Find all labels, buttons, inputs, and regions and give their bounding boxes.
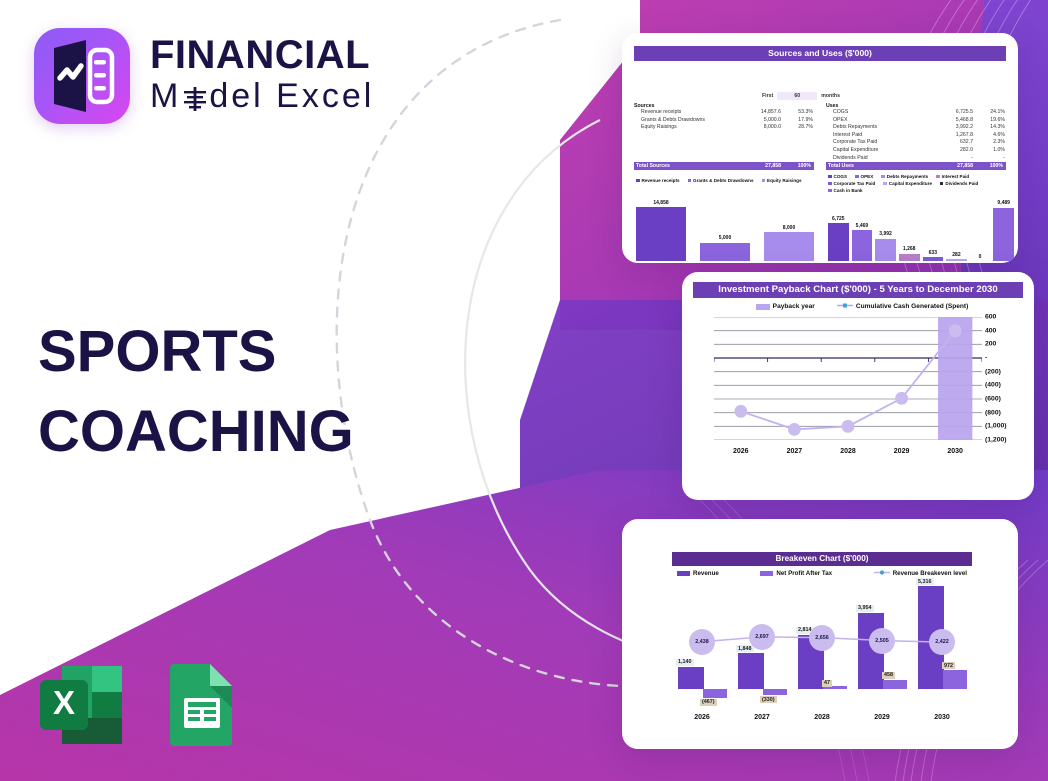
bar-item: 3,992 <box>875 191 896 261</box>
legend-label: Corporate Tax Paid <box>834 180 876 187</box>
sources-legend-item: Revenue receipts <box>636 177 680 184</box>
bar-net-profit <box>883 680 907 689</box>
bar-item: 8,000 <box>764 191 814 261</box>
card-sources-and-uses[interactable]: Sources and Uses ($'000) First 60 months… <box>622 33 1018 263</box>
uses-name: COGS <box>826 109 921 117</box>
bar-revenue <box>738 653 764 689</box>
uses-value: 1,267.8 <box>921 132 973 140</box>
uses-value: 632.7 <box>921 139 973 147</box>
breakeven-level-bubble: 2,505 <box>869 628 895 654</box>
bar-rect <box>923 257 944 261</box>
bar-item: 282 <box>946 191 967 261</box>
bar-rect <box>899 254 920 261</box>
payback-plot-area <box>714 317 982 440</box>
uses-pct: 24.1% <box>973 109 1005 117</box>
uses-legend-item: Dividends Paid <box>940 180 978 187</box>
uses-row: Debts Repayments 3,992.2 14.3% <box>826 124 1006 132</box>
first-label: First <box>762 93 773 99</box>
breakeven-x-tick: 2027 <box>732 714 792 721</box>
sources-name: Equity Raisings <box>634 124 729 132</box>
legend-label: Net Profit After Tax <box>776 570 832 577</box>
uses-row: Interest Paid 1,267.8 4.6% <box>826 132 1006 140</box>
sources-pct: 17.9% <box>781 117 813 125</box>
uses-name: OPEX <box>826 117 921 125</box>
bar-value-label: 0 <box>979 254 982 260</box>
legend-swatch <box>756 304 770 310</box>
payback-y-tick: (600) <box>985 396 1001 403</box>
legend-swatch <box>762 179 766 183</box>
breakeven-x-tick: 2026 <box>672 714 732 721</box>
payback-y-tick: 200 <box>985 341 996 348</box>
uses-legend-item: COGS <box>828 173 847 180</box>
payback-y-tick: (800) <box>985 409 1001 416</box>
legend-revenue: Revenue <box>677 569 719 578</box>
legend-swatch <box>828 175 832 179</box>
net-profit-value-label: 47 <box>822 680 832 687</box>
breakeven-title: Breakeven Chart ($'000) <box>672 552 972 566</box>
brand-line-2: M del Excel <box>150 77 374 116</box>
net-profit-value-label: 972 <box>942 662 955 669</box>
uses-total-label: Total Uses <box>826 162 921 170</box>
revenue-value-label: 5,316 <box>916 578 934 585</box>
legend-label: Revenue Breakeven level <box>893 570 967 577</box>
uses-row: OPEX 5,468.8 19.6% <box>826 117 1006 125</box>
sources-bar-chart: 14,858 5,000 8,000 <box>636 191 814 261</box>
uses-pct: 4.6% <box>973 132 1005 140</box>
sources-legend-item: Equity Raisings <box>762 177 802 184</box>
uses-bar-chart: 6,725 5,469 3,992 1,268 633 282 0 9,489 <box>828 191 1014 261</box>
uses-pct: 19.6% <box>973 117 1005 125</box>
legend-revenue-breakeven-level: Revenue Breakeven level <box>874 569 967 578</box>
bar-value-label: 633 <box>929 250 937 256</box>
sources-row: Revenue receipts 14,857.6 53.3% <box>634 109 814 117</box>
bar-item: 6,725 <box>828 191 849 261</box>
payback-x-tick: 2030 <box>928 448 982 455</box>
uses-pct: 2.3% <box>973 139 1005 147</box>
google-sheets-icon <box>166 660 238 755</box>
sources-legend-item: Grants & Debts Drawdowns <box>688 177 754 184</box>
bar-net-profit <box>943 670 967 689</box>
bar-value-label: 282 <box>952 252 960 258</box>
legend-label: Dividends Paid <box>945 180 978 187</box>
page-title-line-1: SPORTS <box>38 312 354 392</box>
bar-rect <box>875 239 896 261</box>
legend-label: Interest Paid <box>942 173 970 180</box>
legend-swatch <box>688 179 692 183</box>
sources-value: 14,857.6 <box>729 109 781 117</box>
sources-name: Revenue receipts <box>634 109 729 117</box>
bar-rect <box>946 259 967 261</box>
breakeven-legend: Revenue Net Profit After Tax Revenue Bre… <box>677 569 967 578</box>
bar-value-label: 1,268 <box>903 246 916 252</box>
sources-pct: 53.3% <box>781 109 813 117</box>
revenue-value-label: 1,848 <box>736 645 754 652</box>
uses-name: Capital Expenditure <box>826 147 921 155</box>
financial-model-logo-icon <box>34 28 130 124</box>
uses-name: Corporate Tax Paid <box>826 139 921 147</box>
legend-label: Payback year <box>773 303 815 310</box>
legend-swatch <box>936 175 940 179</box>
microsoft-excel-icon: X <box>32 660 128 755</box>
months-label: months <box>821 93 840 99</box>
payback-line-chart <box>714 317 982 440</box>
legend-swatch <box>828 182 832 186</box>
brand-line-2-before: M <box>150 77 181 116</box>
format-icons: X <box>32 660 238 755</box>
payback-y-tick: 400 <box>985 327 996 334</box>
sources-total-value: 27,858 <box>729 162 781 170</box>
legend-label: Capital Expenditure <box>889 180 932 187</box>
uses-total-value: 27,858 <box>921 162 973 170</box>
legend-swatch <box>677 571 690 576</box>
uses-row: COGS 6,725.5 24.1% <box>826 109 1006 117</box>
payback-x-tick: 2029 <box>875 448 929 455</box>
legend-line-marker-icon <box>837 302 853 311</box>
page-title: SPORTS COACHING <box>38 312 354 472</box>
sources-total-row: Total Sources 27,858 100% <box>634 162 814 170</box>
bar-value-label: 14,858 <box>653 200 668 206</box>
first-months-input-row[interactable]: First 60 months <box>762 91 892 100</box>
legend-label: Revenue <box>693 570 719 577</box>
bar-rect <box>700 243 750 261</box>
bar-rect <box>993 208 1014 261</box>
uses-value: 5,468.8 <box>921 117 973 125</box>
brand-line-2-after: del Excel <box>209 77 374 116</box>
brand-line-1: FINANCIAL <box>150 35 374 75</box>
sources-value: 5,000.0 <box>729 117 781 125</box>
legend-swatch <box>940 182 944 186</box>
uses-value: 282.0 <box>921 147 973 155</box>
uses-legend-item: Debts Repayments <box>881 173 928 180</box>
card-breakeven[interactable]: Breakeven Chart ($'000) Revenue Net Prof… <box>622 519 1018 749</box>
sources-pct: 28.7% <box>781 124 813 132</box>
legend-swatch <box>855 175 859 179</box>
equalizer-o-icon <box>182 82 208 112</box>
net-profit-value-label: 458 <box>882 672 895 679</box>
uses-value: 3,992.2 <box>921 124 973 132</box>
brand-lockup: FINANCIAL M del Excel <box>34 28 374 124</box>
bar-rect <box>764 232 814 261</box>
uses-legend-item: Interest Paid <box>936 173 969 180</box>
breakeven-level-bubble: 2,697 <box>749 624 775 650</box>
uses-value: 6,725.5 <box>921 109 973 117</box>
payback-legend: Payback year Cumulative Cash Generated (… <box>722 302 1002 311</box>
legend-net-profit-after-tax: Net Profit After Tax <box>760 569 832 578</box>
payback-x-axis-labels: 20262027202820292030 <box>714 448 982 455</box>
bar-item: 633 <box>923 191 944 261</box>
bar-value-label: 3,992 <box>879 231 892 237</box>
poster-canvas: FINANCIAL M del Excel SPORTS COACHING <box>0 0 1048 781</box>
uses-name: Interest Paid <box>826 132 921 140</box>
net-profit-value-label: (467) <box>700 699 717 706</box>
legend-swatch <box>883 182 887 186</box>
bar-rect <box>852 230 873 261</box>
uses-total-row: Total Uses 27,858 100% <box>826 162 1006 170</box>
legend-label: Equity Raisings <box>767 177 801 184</box>
legend-label: Revenue receipts <box>642 177 680 184</box>
page-title-line-2: COACHING <box>38 392 354 472</box>
revenue-value-label: 3,954 <box>856 605 874 612</box>
uses-pct: 14.3% <box>973 124 1005 132</box>
breakeven-level-bubble: 2,656 <box>809 625 835 651</box>
bar-item: 1,268 <box>899 191 920 261</box>
bar-value-label: 9,489 <box>997 200 1010 206</box>
payback-x-tick: 2027 <box>768 448 822 455</box>
sources-name: Grants & Debts Drawdowns <box>634 117 729 125</box>
svg-text:X: X <box>53 684 75 721</box>
revenue-value-label: 1,140 <box>676 659 694 666</box>
bar-net-profit <box>763 689 787 695</box>
sources-chart-legend: Revenue receipts Grants & Debts Drawdown… <box>636 177 816 184</box>
payback-y-tick: (1,200) <box>985 437 1007 444</box>
sources-total-label: Total Sources <box>634 162 729 170</box>
legend-line-marker-icon <box>874 569 890 578</box>
bar-item: 14,858 <box>636 191 686 261</box>
payback-title: Investment Payback Chart ($'000) - 5 Yea… <box>693 282 1023 298</box>
bar-value-label: 6,725 <box>832 216 845 222</box>
sources-total-pct: 100% <box>781 162 813 170</box>
bar-net-profit <box>703 689 727 698</box>
sources-uses-title: Sources and Uses ($'000) <box>634 46 1006 61</box>
legend-label: OPEX <box>861 173 874 180</box>
legend-label: Grants & Debts Drawdowns <box>693 177 754 184</box>
breakeven-plot-area: 1,140 (467) 1,848 (330) 2,814 47 3,954 4… <box>672 581 972 706</box>
uses-name: Debts Repayments <box>826 124 921 132</box>
payback-y-tick: (400) <box>985 382 1001 389</box>
sources-table: Sources Revenue receipts 14,857.6 53.3% … <box>634 103 814 132</box>
breakeven-x-tick: 2029 <box>852 714 912 721</box>
uses-table: Uses COGS 6,725.5 24.1% OPEX 5,468.8 19.… <box>826 103 1006 170</box>
card-investment-payback[interactable]: Investment Payback Chart ($'000) - 5 Yea… <box>682 272 1034 500</box>
bar-item: 5,000 <box>700 191 750 261</box>
bar-item: 5,469 <box>852 191 873 261</box>
bar-revenue <box>678 667 704 689</box>
uses-legend-item: Capital Expenditure <box>883 180 932 187</box>
breakeven-level-bubble: 2,438 <box>689 629 715 655</box>
bar-value-label: 5,469 <box>856 223 869 229</box>
brand-wordmark: FINANCIAL M del Excel <box>150 35 374 116</box>
payback-x-tick: 2026 <box>714 448 768 455</box>
legend-swatch <box>636 179 640 183</box>
uses-legend-item: Corporate Tax Paid <box>828 180 875 187</box>
bar-value-label: 8,000 <box>783 225 796 231</box>
legend-label: Debts Repayments <box>887 173 928 180</box>
uses-total-pct: 100% <box>973 162 1005 170</box>
breakeven-x-tick: 2028 <box>792 714 852 721</box>
payback-y-tick: - <box>985 355 987 362</box>
payback-y-tick: 600 <box>985 314 996 321</box>
payback-x-tick: 2028 <box>821 448 875 455</box>
legend-payback-year: Payback year <box>756 303 815 310</box>
sources-row: Grants & Debts Drawdowns 5,000.0 17.9% <box>634 117 814 125</box>
legend-swatch <box>881 175 885 179</box>
uses-row: Capital Expenditure 282.0 1.0% <box>826 147 1006 155</box>
bar-value-label: 5,000 <box>719 235 732 241</box>
net-profit-value-label: (330) <box>760 696 777 703</box>
payback-y-tick: (200) <box>985 368 1001 375</box>
legend-swatch <box>760 571 773 576</box>
legend-label: COGS <box>834 173 848 180</box>
months-input[interactable]: 60 <box>777 92 817 100</box>
breakeven-x-axis-labels: 20262027202820292030 <box>672 714 972 721</box>
uses-pct: 1.0% <box>973 147 1005 155</box>
payback-y-tick: (1,000) <box>985 423 1007 430</box>
uses-row: Corporate Tax Paid 632.7 2.3% <box>826 139 1006 147</box>
legend-cumulative-cash: Cumulative Cash Generated (Spent) <box>837 302 968 311</box>
bar-rect <box>828 223 849 261</box>
bar-item: 0 <box>970 191 991 261</box>
legend-label: Cumulative Cash Generated (Spent) <box>856 303 968 310</box>
breakeven-level-bubble: 2,422 <box>929 629 955 655</box>
bar-item: 9,489 <box>993 191 1014 261</box>
uses-legend-item: OPEX <box>855 173 873 180</box>
breakeven-x-tick: 2030 <box>912 714 972 721</box>
sources-value: 8,000.0 <box>729 124 781 132</box>
bar-rect <box>636 207 686 261</box>
sources-row: Equity Raisings 8,000.0 28.7% <box>634 124 814 132</box>
